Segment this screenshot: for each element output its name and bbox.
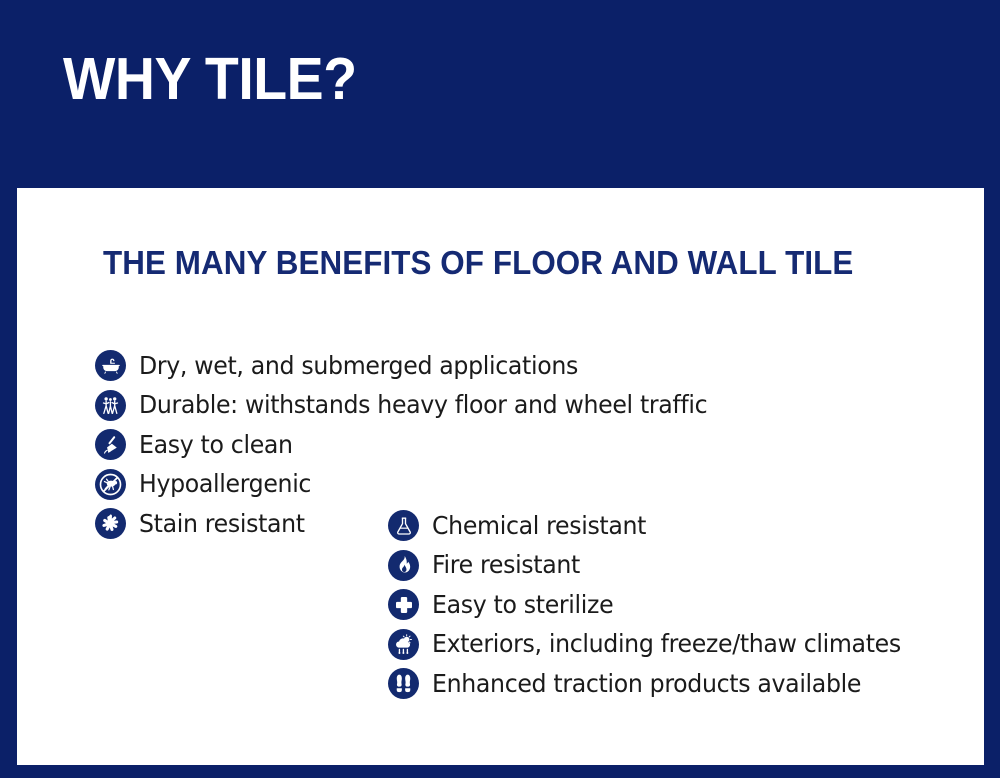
page-title: WHY TILE?	[63, 50, 357, 109]
list-item: Enhanced traction products available	[388, 664, 918, 704]
list-item-label: Chemical resistant	[432, 514, 646, 539]
no-dust-mite-icon	[95, 469, 126, 500]
list-item: Dry, wet, and submerged applications	[95, 346, 728, 386]
list-item: Fire resistant	[388, 546, 918, 586]
header-band: WHY TILE?	[0, 0, 1000, 188]
list-item: Easy to sterilize	[388, 585, 918, 625]
list-item: Easy to clean	[95, 425, 728, 465]
list-item-label: Exteriors, including freeze/thaw climate…	[432, 632, 901, 657]
list-item: Chemical resistant	[388, 506, 918, 546]
bathtub-icon	[95, 350, 126, 381]
list-item-label: Stain resistant	[139, 512, 305, 537]
list-item-label: Dry, wet, and submerged applications	[139, 354, 578, 379]
list-item: Hypoallergenic	[95, 465, 728, 505]
benefits-list-right: Chemical resistant Fire resistant Easy t…	[388, 506, 918, 704]
foot-traffic-icon	[95, 390, 126, 421]
list-item-label: Hypoallergenic	[139, 472, 311, 497]
list-item-label: Durable: withstands heavy floor and whee…	[139, 393, 707, 418]
mop-icon	[95, 429, 126, 460]
list-item-label: Easy to sterilize	[432, 593, 613, 618]
list-item: Durable: withstands heavy floor and whee…	[95, 386, 728, 426]
weather-cloud-icon	[388, 629, 419, 660]
flask-icon	[388, 510, 419, 541]
flame-icon	[388, 550, 419, 581]
plus-cross-icon	[388, 589, 419, 620]
footprints-icon	[388, 668, 419, 699]
list-item-label: Easy to clean	[139, 433, 293, 458]
list-item-label: Enhanced traction products available	[432, 672, 861, 697]
list-item: Exteriors, including freeze/thaw climate…	[388, 625, 918, 665]
benefits-card: THE MANY BENEFITS OF FLOOR AND WALL TILE…	[17, 188, 984, 765]
stain-splat-icon	[95, 508, 126, 539]
list-item-label: Fire resistant	[432, 553, 580, 578]
card-title: THE MANY BENEFITS OF FLOOR AND WALL TILE	[103, 246, 853, 279]
